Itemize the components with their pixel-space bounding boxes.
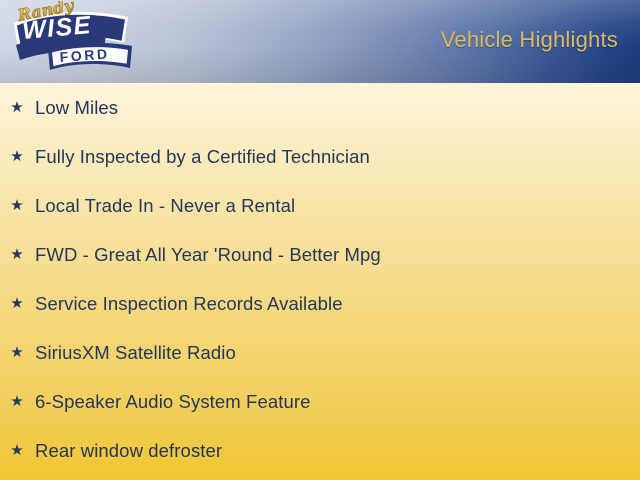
vehicle-highlights-slide: Vehicle Highlights WISE [0,0,640,480]
highlight-text: Rear window defroster [35,440,222,462]
list-item: ★ 6-Speaker Audio System Feature [10,387,630,417]
page-title: Vehicle Highlights [441,27,618,53]
highlight-text: 6-Speaker Audio System Feature [35,391,311,413]
highlight-text: SiriusXM Satellite Radio [35,342,236,364]
star-bullet-icon: ★ [10,443,24,459]
list-item: ★ Fully Inspected by a Certified Technic… [10,142,630,172]
list-item: ★ Low Miles [10,93,630,123]
highlight-text: Fully Inspected by a Certified Technicia… [35,146,370,168]
highlight-text: Service Inspection Records Available [35,293,343,315]
list-item: ★ Local Trade In - Never a Rental [10,191,630,221]
highlight-text: FWD - Great All Year 'Round - Better Mpg [35,244,381,266]
list-item: ★ FWD - Great All Year 'Round - Better M… [10,240,630,270]
dealer-logo: WISE FORD Randy [6,1,141,81]
star-bullet-icon: ★ [10,149,24,165]
list-item: ★ Service Inspection Records Available [10,289,630,319]
star-bullet-icon: ★ [10,100,24,116]
star-bullet-icon: ★ [10,345,24,361]
list-item: ★ SiriusXM Satellite Radio [10,338,630,368]
star-bullet-icon: ★ [10,198,24,214]
list-item: ★ Rear window defroster [10,436,630,466]
star-bullet-icon: ★ [10,247,24,263]
highlight-text: Local Trade In - Never a Rental [35,195,295,217]
highlight-text: Low Miles [35,97,118,119]
highlights-list: ★ Low Miles ★ Fully Inspected by a Certi… [0,83,640,480]
star-bullet-icon: ★ [10,394,24,410]
star-bullet-icon: ★ [10,296,24,312]
